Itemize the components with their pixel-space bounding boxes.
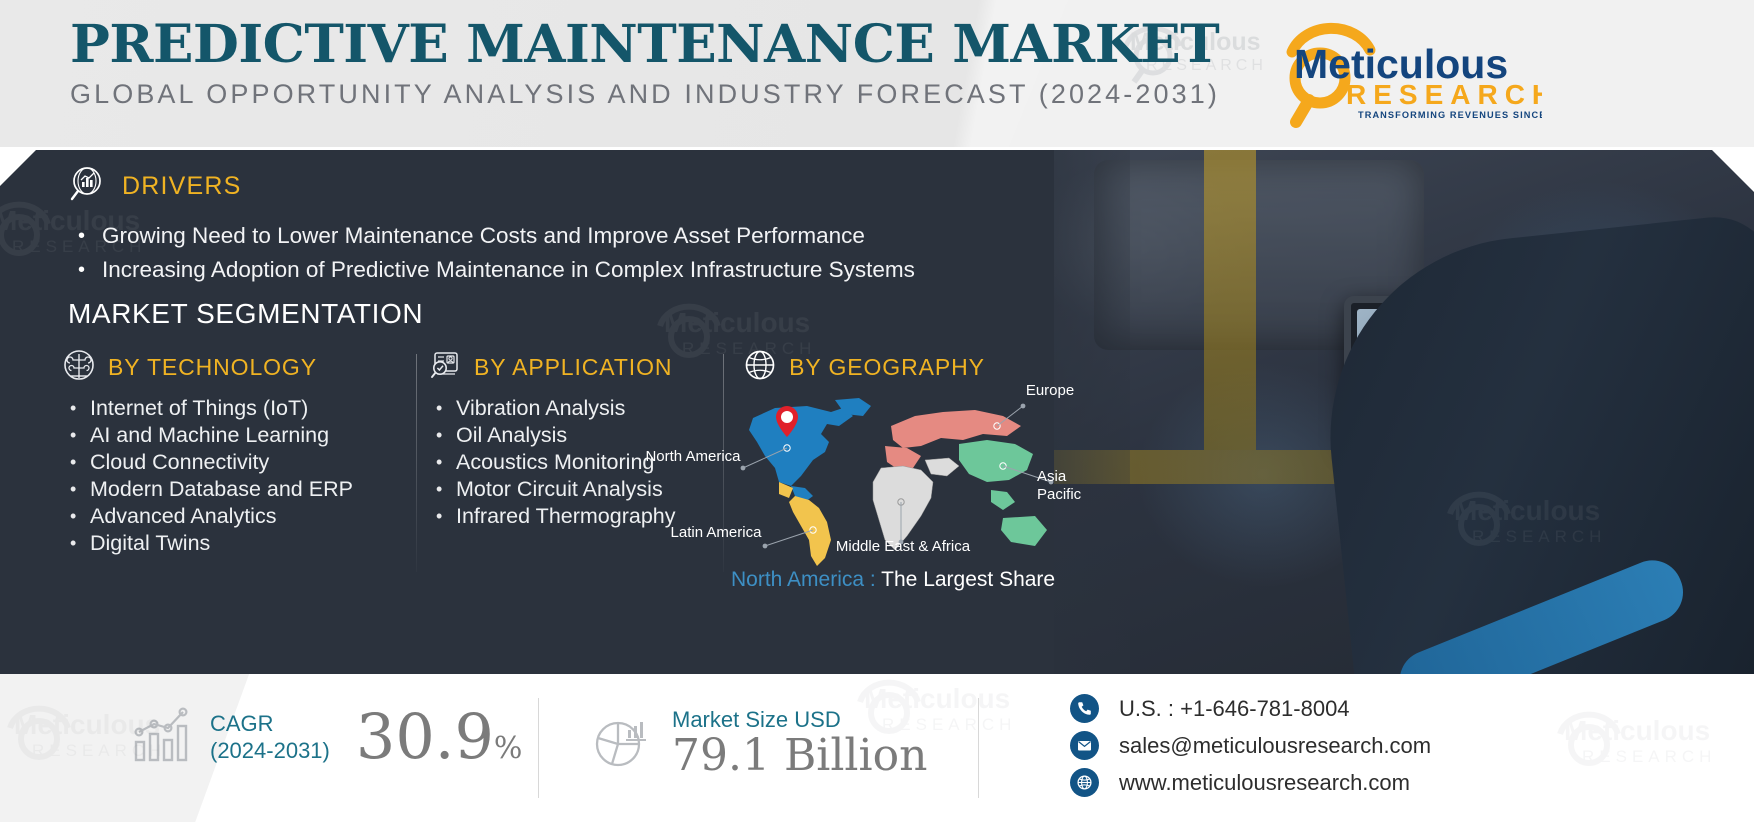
- globe-icon: [1070, 768, 1099, 797]
- bullet-icon: •: [70, 395, 76, 422]
- contact-row-website[interactable]: www.meticulousresearch.com: [1070, 764, 1431, 801]
- segment-title-technology: BY TECHNOLOGY: [108, 354, 317, 381]
- map-label-europe: Europe: [1005, 382, 1095, 400]
- bullet-icon: •: [70, 530, 76, 557]
- bullet-icon: •: [70, 476, 76, 503]
- corner-accent-right: [1712, 150, 1754, 192]
- document-check-magnifier-icon: [428, 348, 462, 387]
- svg-text:Meticulous: Meticulous: [1564, 715, 1710, 746]
- market-size-text-group: Market Size USD 79.1 Billion: [672, 706, 927, 779]
- magnifier-chart-icon: [68, 164, 108, 209]
- drivers-title: DRIVERS: [122, 172, 242, 201]
- list-item: •Vibration Analysis: [436, 395, 723, 422]
- segment-item: Internet of Things (IoT): [90, 395, 308, 422]
- map-region-asia-pacific: [959, 440, 1047, 546]
- segment-item: Cloud Connectivity: [90, 449, 269, 476]
- segmentation-title: MARKET SEGMENTATION: [68, 298, 423, 330]
- segment-item: Acoustics Monitoring: [456, 449, 654, 476]
- list-item: • Growing Need to Lower Maintenance Cost…: [78, 221, 1108, 251]
- list-item: •Advanced Analytics: [70, 503, 400, 530]
- contact-list: U.S. : +1-646-781-8004 sales@meticulousr…: [1070, 690, 1431, 801]
- logo-tagline: TRANSFORMING REVENUES SINCE 2010: [1358, 110, 1542, 120]
- map-label-north-america: North America: [643, 448, 743, 466]
- bullet-icon: •: [78, 221, 86, 251]
- segment-item: Vibration Analysis: [456, 395, 625, 422]
- watermark-footer-right: Meticulous RESEARCH: [1540, 700, 1740, 785]
- market-size-label: Market Size USD: [672, 706, 927, 733]
- contact-row-phone[interactable]: U.S. : +1-646-781-8004: [1070, 690, 1431, 727]
- map-label-middle-east-africa: Middle East & Africa: [813, 538, 993, 556]
- drivers-section: DRIVERS • Growing Need to Lower Maintena…: [68, 164, 1108, 289]
- phone-icon: [1070, 694, 1099, 723]
- bullet-icon: •: [436, 503, 442, 530]
- segment-title-geography: BY GEOGRAPHY: [789, 354, 985, 381]
- footer-divider-2: [978, 698, 979, 798]
- bullet-icon: •: [436, 422, 442, 449]
- cagr-unit: %: [494, 731, 523, 766]
- drivers-header: DRIVERS: [68, 164, 1108, 209]
- segment-item: Oil Analysis: [456, 422, 567, 449]
- market-size-value: 79.1 Billion: [672, 733, 927, 779]
- infographic-root: Meticulous RESEARCH PREDICTIVE MAINTENAN…: [0, 0, 1754, 822]
- highlight-text: The Largest Share: [881, 568, 1055, 591]
- list-item: •Internet of Things (IoT): [70, 395, 400, 422]
- globe-icon: [743, 348, 777, 387]
- circuit-circle-icon: [62, 348, 96, 387]
- map-label-latin-america: Latin America: [667, 524, 765, 542]
- contact-text-phone: U.S. : +1-646-781-8004: [1119, 696, 1350, 722]
- main-panel: Meticulous RESEARCH Meticulous RESEARCH …: [0, 150, 1754, 674]
- header-bar: Meticulous RESEARCH PREDICTIVE MAINTENAN…: [0, 0, 1754, 150]
- map-region-north-america: [749, 398, 871, 502]
- list-item: •Digital Twins: [70, 530, 400, 557]
- corner-accent-left: [0, 150, 36, 186]
- segment-column-technology: BY TECHNOLOGY •Internet of Things (IoT) …: [62, 348, 416, 557]
- list-item: •Cloud Connectivity: [70, 449, 400, 476]
- segment-item: AI and Machine Learning: [90, 422, 329, 449]
- map-label-asia-pacific: Asia Pacific: [1037, 468, 1099, 504]
- pie-chart-icon: [590, 708, 654, 777]
- background-photo: [1054, 150, 1754, 674]
- bullet-icon: •: [436, 476, 442, 503]
- cagr-label: CAGR (2024-2031): [210, 710, 330, 764]
- bullet-icon: •: [70, 422, 76, 449]
- cagr-label-line1: CAGR: [210, 710, 330, 737]
- contact-text-website: www.meticulousresearch.com: [1119, 770, 1410, 796]
- list-item: •Modern Database and ERP: [70, 476, 400, 503]
- highlight-separator: :: [864, 568, 881, 591]
- logo-word-sub: RESEARCH: [1346, 79, 1542, 110]
- segment-item: Advanced Analytics: [90, 503, 276, 530]
- page-subtitle: GLOBAL OPPORTUNITY ANALYSIS AND INDUSTRY…: [70, 79, 1220, 110]
- bar-chart-growth-icon: [128, 702, 192, 771]
- geography-highlight-note: North America : The Largest Share: [731, 568, 1055, 592]
- metric-cagr: CAGR (2024-2031) 30.9%: [128, 702, 522, 771]
- driver-text: Increasing Adoption of Predictive Mainte…: [102, 255, 915, 285]
- footer-divider-1: [538, 698, 539, 798]
- segment-list-technology: •Internet of Things (IoT) •AI and Machin…: [70, 395, 400, 557]
- email-icon: [1070, 731, 1099, 760]
- map-region-middle-east-africa: [873, 458, 959, 550]
- world-map: North America Latin America Europe Asia …: [735, 390, 1065, 570]
- column-divider: [416, 354, 417, 572]
- header-text-block: PREDICTIVE MAINTENANCE MARKET GLOBAL OPP…: [70, 16, 1220, 110]
- driver-text: Growing Need to Lower Maintenance Costs …: [102, 221, 865, 251]
- list-item: •Motor Circuit Analysis: [436, 476, 723, 503]
- segment-item: Modern Database and ERP: [90, 476, 353, 503]
- bullet-icon: •: [436, 449, 442, 476]
- contact-row-email[interactable]: sales@meticulousresearch.com: [1070, 727, 1431, 764]
- segment-title-application: BY APPLICATION: [474, 354, 672, 381]
- list-item: • Increasing Adoption of Predictive Main…: [78, 255, 1108, 285]
- cagr-value-group: 30.9%: [356, 706, 523, 768]
- footer-bar: Meticulous RESEARCH Meticulous RESEARCH …: [0, 674, 1754, 822]
- bullet-icon: •: [436, 395, 442, 422]
- page-title: PREDICTIVE MAINTENANCE MARKET: [70, 16, 1243, 73]
- metric-market-size: Market Size USD 79.1 Billion: [590, 706, 927, 779]
- cagr-label-line2: (2024-2031): [210, 737, 330, 764]
- drivers-list: • Growing Need to Lower Maintenance Cost…: [78, 221, 1108, 285]
- segment-item: Digital Twins: [90, 530, 210, 557]
- cagr-value: 30.9: [356, 700, 494, 773]
- svg-text:RESEARCH: RESEARCH: [1582, 747, 1716, 766]
- highlight-region: North America: [731, 568, 864, 591]
- company-logo[interactable]: Meticulous RESEARCH TRANSFORMING REVENUE…: [1262, 16, 1542, 128]
- bullet-icon: •: [70, 503, 76, 530]
- bullet-icon: •: [70, 449, 76, 476]
- bullet-icon: •: [78, 255, 86, 285]
- list-item: •AI and Machine Learning: [70, 422, 400, 449]
- list-item: •Oil Analysis: [436, 422, 723, 449]
- segment-item: Motor Circuit Analysis: [456, 476, 663, 503]
- contact-text-email: sales@meticulousresearch.com: [1119, 733, 1431, 759]
- segment-item: Infrared Thermography: [456, 503, 676, 530]
